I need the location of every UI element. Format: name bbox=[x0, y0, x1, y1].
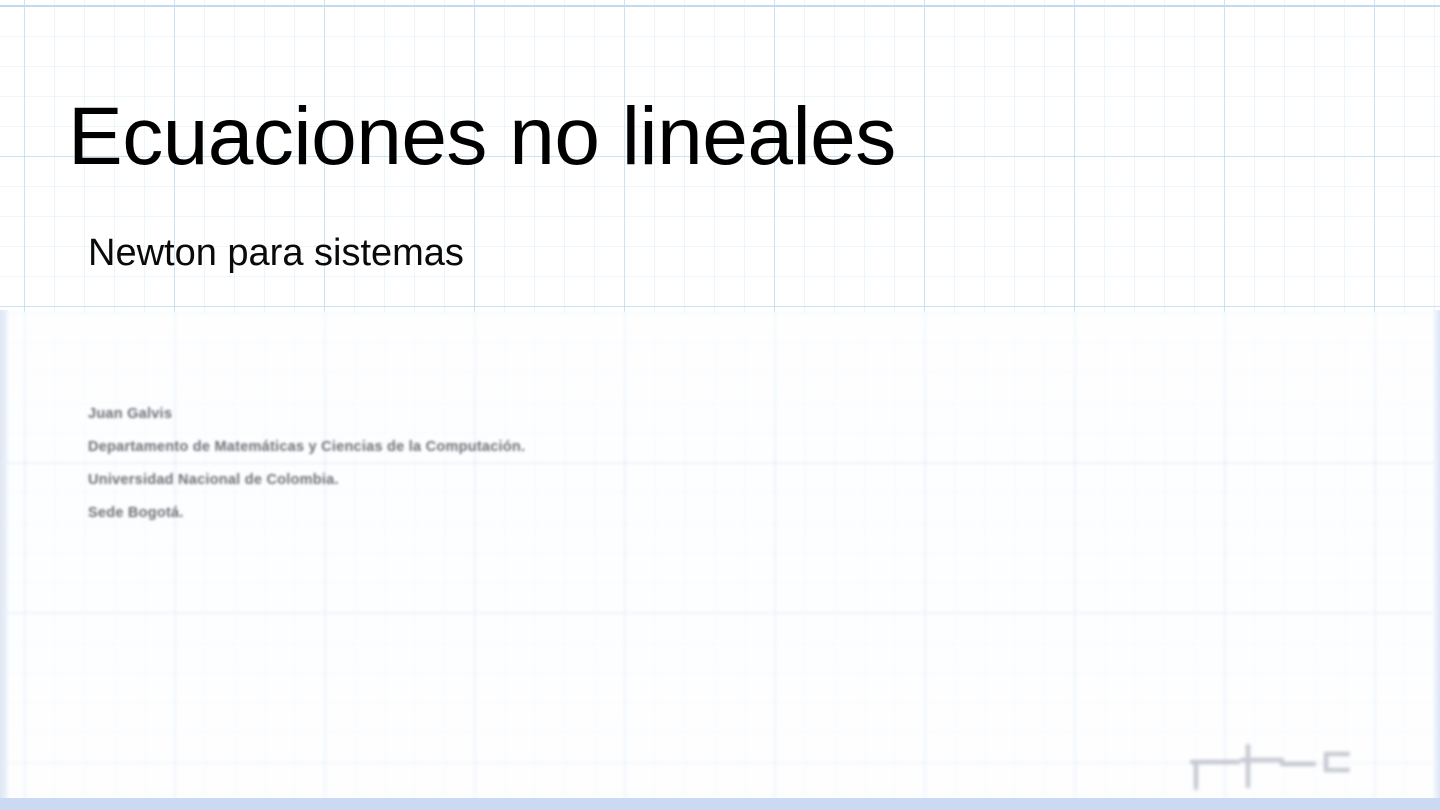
left-edge-band bbox=[0, 310, 10, 802]
author-line: Universidad Nacional de Colombia. bbox=[88, 464, 988, 497]
right-edge-band bbox=[1432, 310, 1440, 802]
author-line: Departamento de Matemáticas y Ciencias d… bbox=[88, 431, 988, 464]
author-affiliation-block: Juan Galvis Departamento de Matemáticas … bbox=[88, 398, 988, 530]
handwritten-mark-icon bbox=[1186, 740, 1361, 792]
presentation-slide: Ecuaciones no lineales Newton para siste… bbox=[0, 0, 1440, 810]
author-line: Sede Bogotá. bbox=[88, 497, 988, 530]
top-rule-divider bbox=[0, 5, 1440, 7]
slide-subtitle: Newton para sistemas bbox=[88, 234, 464, 272]
slide-title: Ecuaciones no lineales bbox=[68, 96, 896, 178]
graph-paper-background-lower bbox=[0, 312, 1440, 810]
bottom-edge-band bbox=[0, 798, 1440, 810]
author-line: Juan Galvis bbox=[88, 398, 988, 431]
